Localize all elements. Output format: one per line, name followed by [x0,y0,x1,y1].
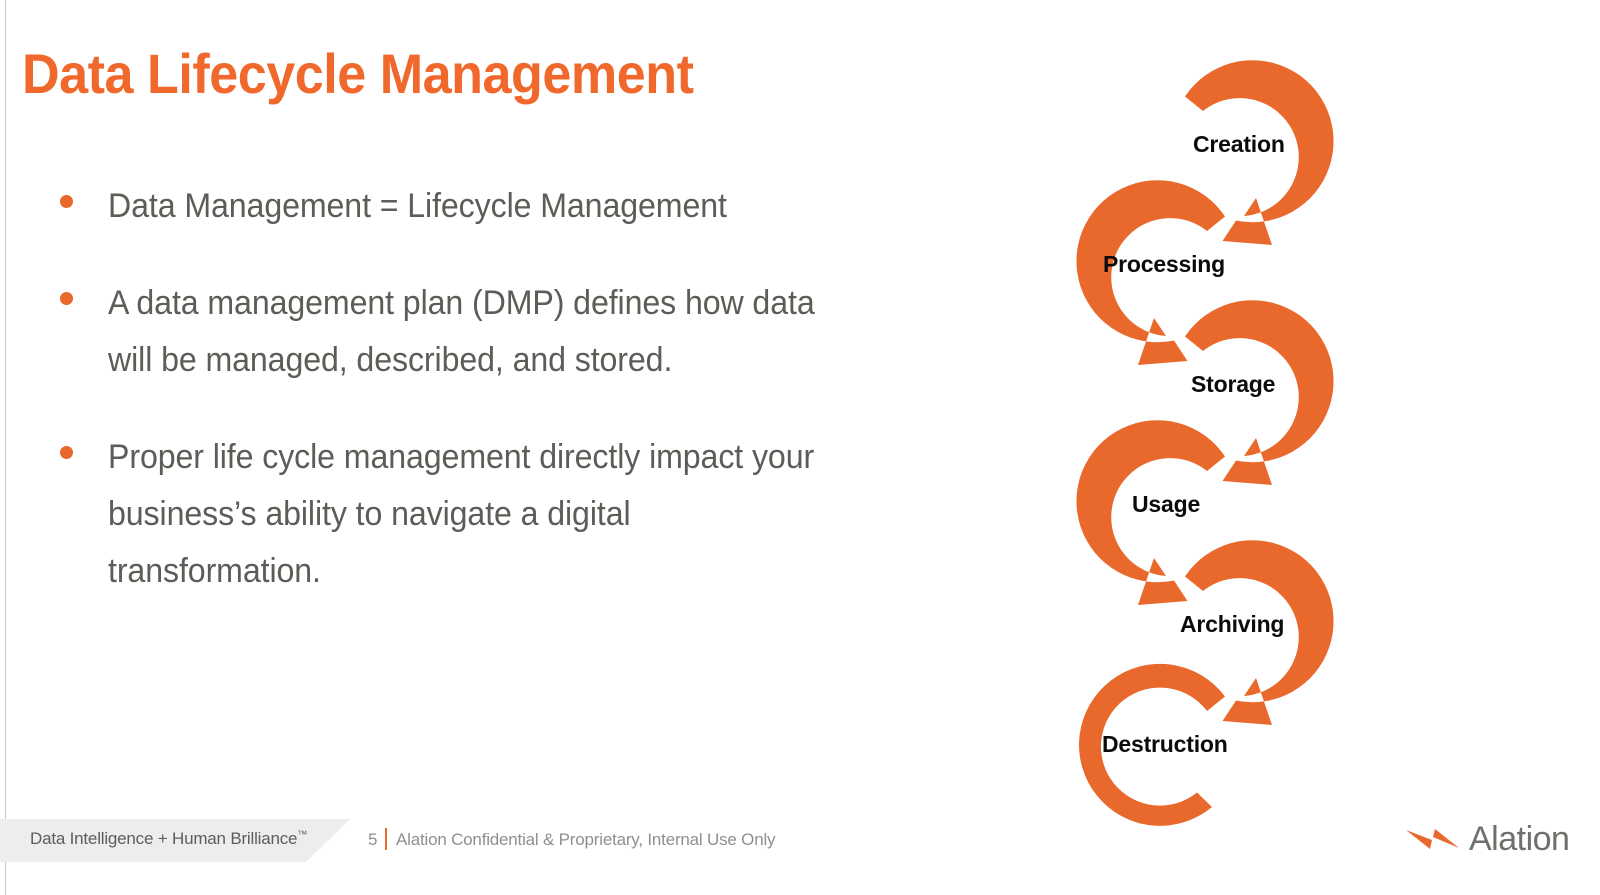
stage-label-processing: Processing [1103,251,1225,278]
alation-wordmark: Alation [1469,822,1569,856]
list-item: Proper life cycle management directly im… [52,429,882,600]
bullet-dot-icon [60,195,73,208]
alation-logo: Alation [1405,822,1569,856]
trademark-icon: ™ [297,829,307,840]
data-lifecycle-diagram: Creation Processing Storage Usage Archiv… [1010,30,1450,840]
bullet-dot-icon [60,292,73,305]
bullet-dot-icon [60,446,73,459]
footer-separator [385,828,387,850]
bullet-text: A data management plan (DMP) defines how… [108,275,839,389]
bullet-text: Data Management = Lifecycle Management [108,178,839,235]
slide-left-border [5,0,6,895]
stage-label-storage: Storage [1191,371,1275,398]
footer-tagline: Data Intelligence + Human Brilliance™ [30,829,307,849]
stage-label-creation: Creation [1193,131,1285,158]
confidentiality-notice: Alation Confidential & Proprietary, Inte… [396,830,775,850]
stage-label-archiving: Archiving [1180,611,1284,638]
bullet-list: Data Management = Lifecycle Management A… [52,178,882,600]
stage-label-usage: Usage [1132,491,1200,518]
list-item: A data management plan (DMP) defines how… [52,275,882,389]
list-item: Data Management = Lifecycle Management [52,178,882,235]
bullet-text: Proper life cycle management directly im… [108,429,839,600]
page-title: Data Lifecycle Management [22,42,896,106]
stage-label-destruction: Destruction [1102,731,1228,758]
slide-canvas: Data Lifecycle Management Data Managemen… [0,0,1600,895]
footer-tagline-text: Data Intelligence + Human Brilliance [30,829,297,848]
page-number: 5 [368,830,377,850]
alation-bowtie-icon [1405,824,1461,854]
